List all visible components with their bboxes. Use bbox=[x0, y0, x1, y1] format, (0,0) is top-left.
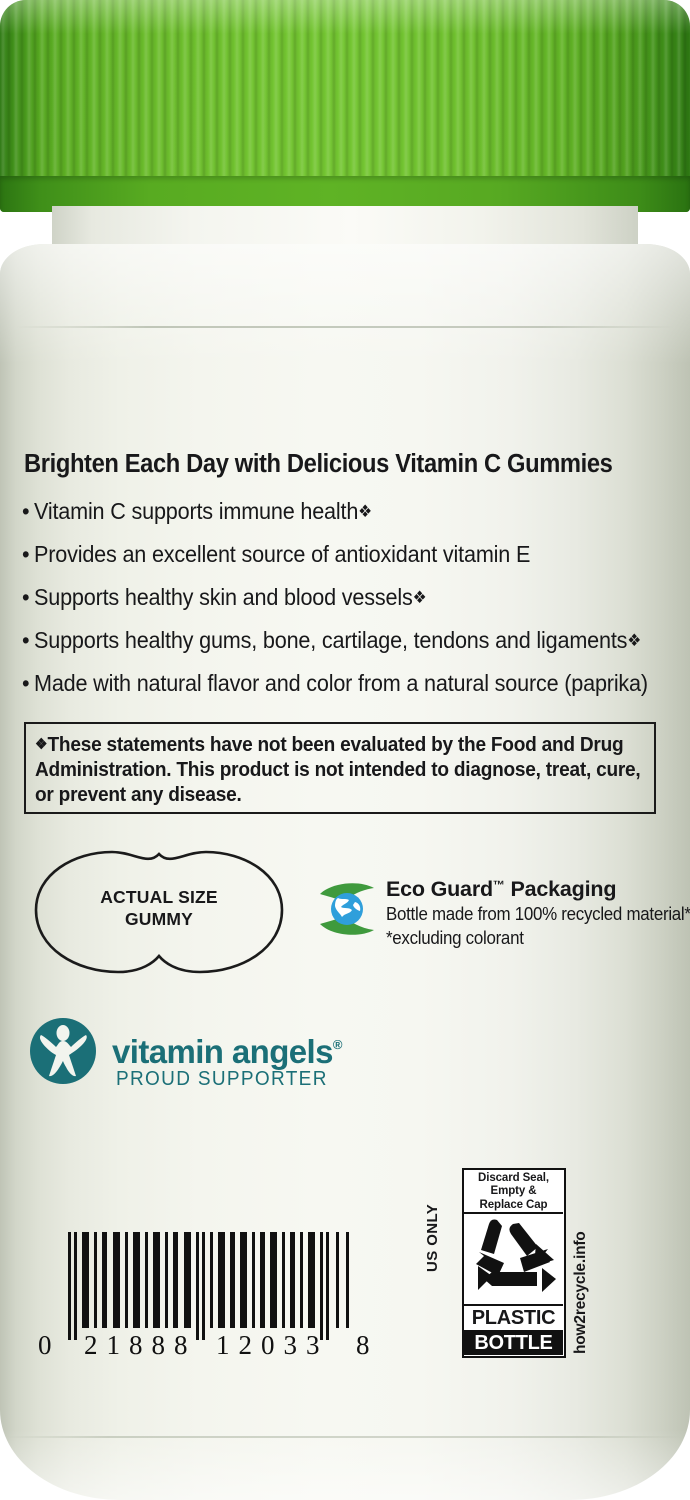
bullet-icon: • bbox=[22, 670, 29, 696]
list-item: •Vitamin C supports immune health❖ bbox=[22, 490, 629, 533]
how2recycle-instruction-line2: Empty & bbox=[464, 1185, 563, 1198]
how2recycle-instruction-line1: Discard Seal, bbox=[464, 1172, 563, 1185]
dagger-icon: ❖ bbox=[35, 736, 48, 753]
bullet-icon: • bbox=[22, 627, 29, 653]
recycle-arrows-icon bbox=[464, 1214, 563, 1303]
benefit-claims-list: •Vitamin C supports immune health❖ •Prov… bbox=[22, 490, 682, 705]
barcode-check-digit: 8 bbox=[356, 1330, 370, 1361]
gummy-label-line2: GUMMY bbox=[30, 908, 288, 930]
fda-disclaimer-box: ❖These statements have not been evaluate… bbox=[24, 722, 656, 814]
product-bottle-image: Brighten Each Day with Delicious Vitamin… bbox=[0, 0, 690, 1500]
eco-guard-globe-icon bbox=[316, 878, 378, 940]
how2recycle-website: how2recycle.info bbox=[572, 1231, 590, 1354]
how2recycle-label: US ONLY Discard Seal, Empty & Replace Ca… bbox=[440, 1168, 590, 1364]
barcode-bars bbox=[68, 1232, 388, 1340]
vitamin-angels-block: vitamin angels® PROUD SUPPORTER bbox=[28, 1016, 428, 1108]
eco-guard-title-main: Eco Guard bbox=[386, 877, 493, 901]
how2recycle-symbol bbox=[464, 1214, 563, 1306]
claim-text: Supports healthy skin and blood vessels bbox=[34, 584, 413, 610]
list-item: •Made with natural flavor and color from… bbox=[22, 662, 629, 705]
eco-guard-title: Eco Guard™ Packaging bbox=[386, 872, 686, 902]
eco-guard-line2: Bottle made from 100% recycled material* bbox=[386, 902, 668, 926]
list-item: •Provides an excellent source of antioxi… bbox=[22, 533, 629, 576]
how2recycle-box: Discard Seal, Empty & Replace Cap bbox=[462, 1168, 566, 1358]
bullet-icon: • bbox=[22, 541, 29, 567]
eco-guard-text: Eco Guard™ Packaging Bottle made from 10… bbox=[386, 872, 686, 950]
eco-guard-block: Eco Guard™ Packaging Bottle made from 10… bbox=[316, 872, 686, 956]
bullet-icon: • bbox=[22, 498, 29, 524]
registered-icon: ® bbox=[333, 1037, 342, 1052]
claim-text: Vitamin C supports immune health bbox=[34, 498, 358, 524]
how2recycle-region: US ONLY bbox=[424, 1204, 441, 1272]
gummy-label-line1: ACTUAL SIZE bbox=[30, 886, 288, 908]
eco-guard-title-suffix: Packaging bbox=[505, 877, 617, 901]
eco-guard-line3: *excluding colorant bbox=[386, 926, 668, 950]
dagger-icon: ❖ bbox=[413, 588, 427, 607]
label-headline: Brighten Each Day with Delicious Vitamin… bbox=[24, 452, 619, 478]
vitamin-angels-logo-icon bbox=[28, 1016, 98, 1086]
dagger-icon: ❖ bbox=[627, 631, 641, 650]
dagger-icon: ❖ bbox=[358, 502, 372, 521]
fda-disclaimer-text: ❖These statements have not been evaluate… bbox=[35, 732, 649, 807]
barcode-group-right: 12033 bbox=[216, 1330, 329, 1361]
bullet-icon: • bbox=[22, 584, 29, 610]
actual-size-gummy: ACTUAL SIZE GUMMY bbox=[30, 848, 288, 976]
claim-text: Provides an excellent source of antioxid… bbox=[34, 541, 530, 567]
claim-text: Made with natural flavor and color from … bbox=[34, 670, 648, 696]
barcode-lead-digit: 0 bbox=[38, 1330, 52, 1361]
vitamin-angels-name: vitamin angels® bbox=[112, 1028, 342, 1069]
fda-disclaimer-body: These statements have not been evaluated… bbox=[35, 733, 641, 806]
upc-barcode: 0 21888 12033 8 bbox=[38, 1232, 418, 1367]
claim-text: Supports healthy gums, bone, cartilage, … bbox=[34, 627, 627, 653]
list-item: •Supports healthy skin and blood vessels… bbox=[22, 576, 629, 619]
vitamin-angels-tagline: PROUD SUPPORTER bbox=[116, 1068, 328, 1091]
label-content: Brighten Each Day with Delicious Vitamin… bbox=[0, 0, 690, 1500]
list-item: •Supports healthy gums, bone, cartilage,… bbox=[22, 619, 629, 662]
how2recycle-form: BOTTLE bbox=[464, 1332, 563, 1355]
vitamin-angels-wordmark: vitamin angels bbox=[112, 1033, 333, 1070]
how2recycle-material: PLASTIC bbox=[464, 1306, 563, 1332]
how2recycle-instruction-line3: Replace Cap bbox=[464, 1199, 563, 1212]
barcode-group-left: 21888 bbox=[84, 1330, 197, 1361]
trademark-icon: ™ bbox=[493, 878, 505, 892]
how2recycle-instructions: Discard Seal, Empty & Replace Cap bbox=[464, 1170, 563, 1214]
gummy-label: ACTUAL SIZE GUMMY bbox=[30, 886, 288, 930]
